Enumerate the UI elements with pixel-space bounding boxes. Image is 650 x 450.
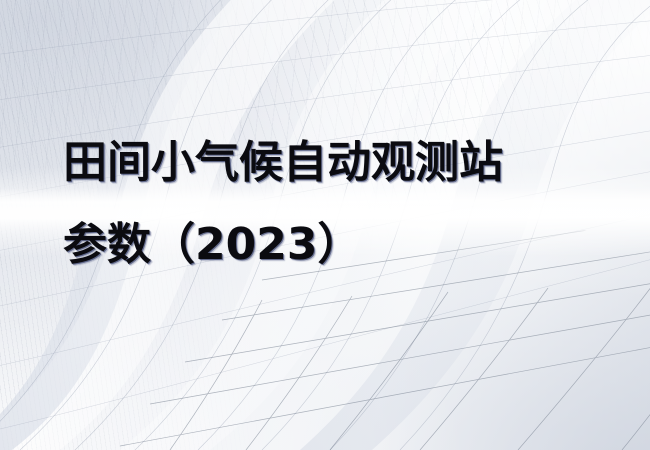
title-block: 田间小气候自动观测站 参数（2023） [63, 122, 603, 286]
page-title-line-2: 参数（2023） [63, 204, 603, 286]
page-title-line-1: 田间小气候自动观测站 [63, 122, 603, 204]
title-slide: 田间小气候自动观测站 参数（2023） [0, 0, 650, 450]
